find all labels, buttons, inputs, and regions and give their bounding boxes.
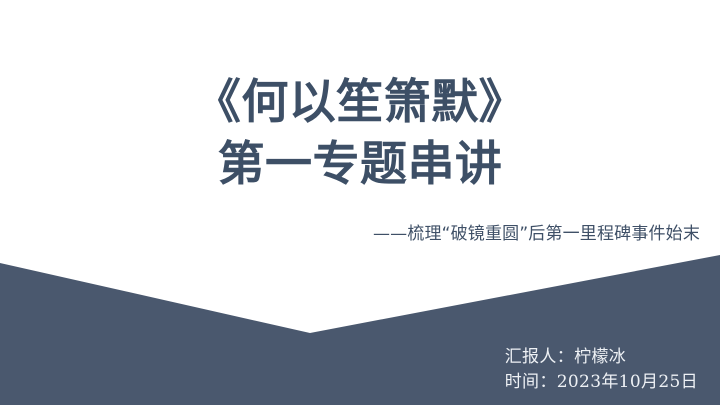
title-slide: 《何以笙箫默》 第一专题串讲 ——梳理“破镜重圆”后第一里程碑事件始末 汇报人：… <box>0 0 720 405</box>
date-line: 时间：2023年10月25日 <box>505 370 698 395</box>
subtitle-text: ——梳理“破镜重圆”后第一里程碑事件始末 <box>373 222 700 246</box>
title-line-secondary: 第一专题串讲 <box>0 134 720 196</box>
byline-block: 汇报人：柠檬冰 时间：2023年10月25日 <box>505 345 698 395</box>
presenter-line: 汇报人：柠檬冰 <box>505 345 698 370</box>
title-line-primary: 《何以笙箫默》 <box>0 72 720 134</box>
page-title: 《何以笙箫默》 第一专题串讲 <box>0 72 720 196</box>
